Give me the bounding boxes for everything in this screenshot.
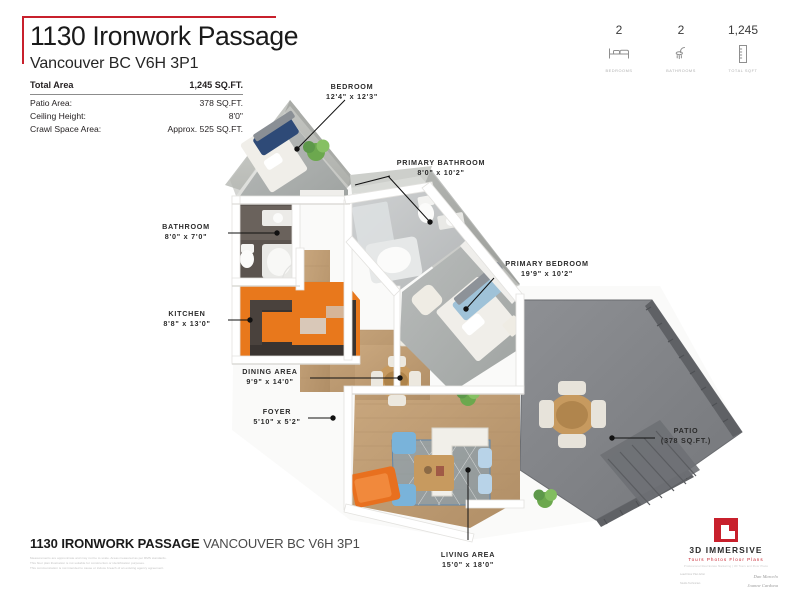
room-dims: 9'9" x 14'0" [230, 377, 310, 387]
room-label-foyer: FOYER 5'10" x 5'2" [246, 407, 308, 428]
room-name: DINING AREA [230, 367, 310, 377]
footer-address: 1130 IRONWORK PASSAGE VANCOUVER BC V6H 3… [30, 536, 450, 551]
room-label-primary-bedroom: PRIMARY BEDROOM 19'9" x 10'2" [492, 259, 602, 280]
disclaimer: Measurements are approximate and may not… [30, 556, 450, 572]
room-label-primary-bathroom: PRIMARY BATHROOM 8'0" x 10'2" [383, 158, 499, 179]
room-label-bathroom: BATHROOM 8'0" x 7'0" [146, 222, 226, 243]
signature-name: Dan Marcelo [754, 572, 778, 581]
room-dims: 8'0" x 10'2" [383, 168, 499, 178]
signature-label: Lead Floor Plan Artist [680, 573, 705, 576]
room-dims: (378 SQ.FT.) [650, 436, 722, 446]
room-dims: 8'0" x 7'0" [146, 232, 226, 242]
room-name: KITCHEN [148, 309, 226, 319]
footer-address-bold: 1130 IRONWORK PASSAGE [30, 536, 200, 551]
room-label-dining-area: DINING AREA 9'9" x 14'0" [230, 367, 310, 388]
signature-label: Studio Technician [680, 582, 700, 585]
patio-area [520, 300, 742, 527]
room-name: PRIMARY BATHROOM [383, 158, 499, 168]
disclaimer-line: This communication is not intended to ca… [30, 566, 450, 571]
signature-row: Joanne Cardona Studio Technician [680, 581, 778, 590]
room-label-bedroom: BEDROOM 12'4" x 12'3" [306, 82, 398, 103]
floorplan-stage: BEDROOM 12'4" x 12'3" PRIMARY BATHROOM 8… [0, 0, 800, 600]
room-name: BATHROOM [146, 222, 226, 232]
logo-subline: Professional Real Estate Marketing | 3D … [674, 565, 778, 568]
logo-name: 3D IMMERSIVE [674, 545, 778, 555]
bathroom-area [236, 202, 300, 282]
room-label-patio: PATIO (378 SQ.FT.) [650, 426, 722, 447]
room-dims: 8'8" x 13'0" [148, 319, 226, 329]
toilet-fixture [240, 244, 254, 268]
room-dims: 19'9" x 10'2" [492, 269, 602, 279]
footer-address-light: VANCOUVER BC V6H 3P1 [200, 536, 360, 551]
logo-mark-icon [714, 518, 738, 542]
room-name: PATIO [650, 426, 722, 436]
signature-name: Joanne Cardona [747, 581, 778, 590]
signature-block: Dan Marcelo Lead Floor Plan Artist Joann… [674, 572, 778, 590]
room-dims: 12'4" x 12'3" [306, 92, 398, 102]
room-name: PRIMARY BEDROOM [492, 259, 602, 269]
signature-row: Dan Marcelo Lead Floor Plan Artist [680, 572, 778, 581]
room-name: BEDROOM [306, 82, 398, 92]
room-label-kitchen: KITCHEN 8'8" x 13'0" [148, 309, 226, 330]
room-name: FOYER [246, 407, 308, 417]
footer-block: 1130 IRONWORK PASSAGE VANCOUVER BC V6H 3… [30, 536, 450, 572]
logo-tagline: Tours Photos Floor Plans [674, 557, 778, 562]
room-dims: 5'10" x 5'2" [246, 417, 308, 427]
kitchen-area [236, 282, 360, 360]
brand-logo[interactable]: 3D IMMERSIVE Tours Photos Floor Plans Pr… [674, 518, 778, 590]
